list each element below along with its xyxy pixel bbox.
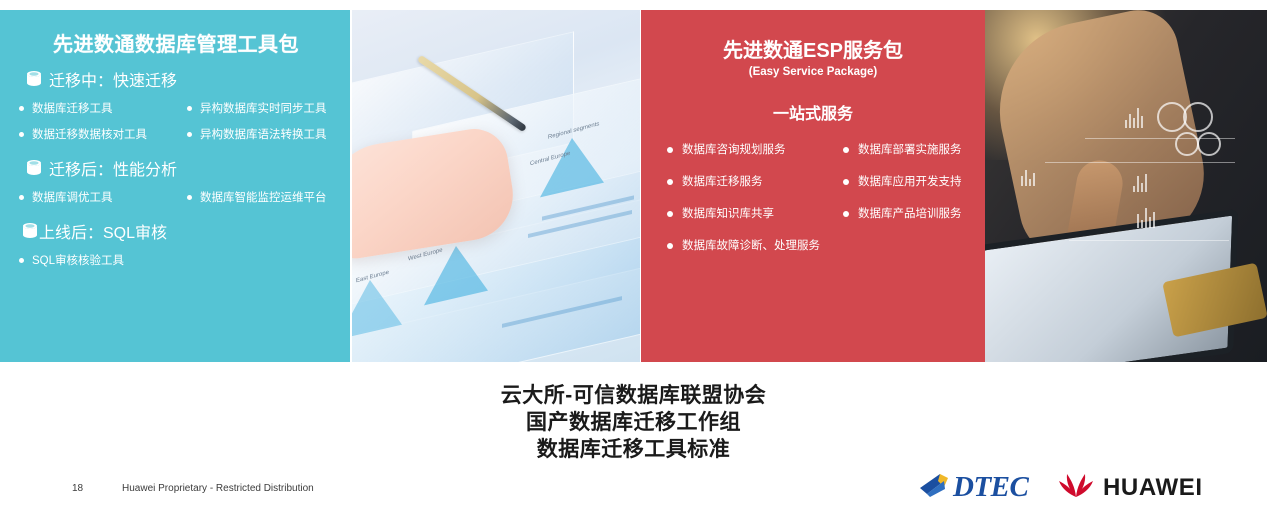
list-item: 数据库知识库共享 xyxy=(663,204,839,224)
list-item: 数据库咨询规划服务 xyxy=(663,140,839,160)
photo-data-barchart xyxy=(1021,168,1035,186)
left-stage-label: 迁移后：性能分析 xyxy=(49,156,177,180)
list-item: SQL审核核验工具 xyxy=(14,251,340,271)
photo-data-barchart xyxy=(1133,172,1147,192)
left-items-group-migrating: 数据库迁移工具 异构数据库实时同步工具 数据迁移数据核对工具 异构数据库语法转换… xyxy=(14,99,340,145)
left-stage-label: 迁移中：快速迁移 xyxy=(49,67,177,91)
list-item: 数据库故障诊断、处理服务 xyxy=(663,236,971,256)
photo-data-line xyxy=(1069,240,1229,241)
list-item: 异构数据库实时同步工具 xyxy=(182,99,340,119)
page-number: 18 xyxy=(72,483,83,494)
list-item: 数据库产品培训服务 xyxy=(839,204,971,224)
list-item: 数据库调优工具 xyxy=(14,188,182,208)
confidentiality-note: Huawei Proprietary - Restricted Distribu… xyxy=(122,483,314,494)
left-stage-label: 上线后：SQL审核 xyxy=(39,219,167,243)
photo-data-barchart xyxy=(1125,106,1143,128)
list-item: 异构数据库语法转换工具 xyxy=(182,125,340,145)
photo-data-line xyxy=(1085,138,1235,139)
list-item: 数据库应用开发支持 xyxy=(839,172,971,192)
database-icon xyxy=(26,159,42,177)
dtec-logo-text: DTEC xyxy=(953,473,1028,502)
list-item: 数据库迁移服务 xyxy=(663,172,839,192)
list-item: 数据库部署实施服务 xyxy=(839,140,971,160)
photo-data-barchart xyxy=(1137,206,1155,228)
huawei-logo-text: HUAWEI xyxy=(1103,476,1203,500)
left-stage-heading-migrating: 迁移中：快速迁移 xyxy=(26,67,340,91)
list-item: 数据库迁移工具 xyxy=(14,99,182,119)
tablet-touch-data-photo xyxy=(985,10,1267,362)
banner-strip: 先进数通数据库管理工具包 迁移中：快速迁移 数据库迁移工具 异构数据库实时同步工… xyxy=(0,10,1267,362)
right-panel-title: 先进数通ESP服务包 xyxy=(655,40,971,63)
list-item: 数据迁移数据核对工具 xyxy=(14,125,182,145)
right-panel-section-heading: 一站式服务 xyxy=(655,100,971,124)
left-panel-title: 先进数通数据库管理工具包 xyxy=(12,34,340,56)
photo-data-ring xyxy=(1197,132,1221,156)
left-items-group-after-golive: SQL审核核验工具 xyxy=(14,251,340,271)
bottom-title-line-1: 云大所-可信数据库联盟协会 xyxy=(0,382,1267,409)
right-items-group: 数据库咨询规划服务 数据库部署实施服务 数据库迁移服务 数据库应用开发支持 数据… xyxy=(663,140,971,256)
huawei-flower-icon xyxy=(1057,471,1095,504)
business-analytics-photo: Regional segments Central Europe West Eu… xyxy=(352,10,640,362)
dtec-logo: DTEC xyxy=(918,472,1028,503)
photo-data-line xyxy=(1045,162,1235,163)
bottom-title-line-3: 数据库迁移工具标准 xyxy=(0,436,1267,463)
left-items-group-after-migration: 数据库调优工具 数据库智能监控运维平台 xyxy=(14,188,340,208)
dtec-arrow-icon xyxy=(918,472,952,503)
left-stage-heading-after-golive: 上线后：SQL审核 xyxy=(22,219,340,243)
database-icon xyxy=(26,70,42,88)
huawei-logo: HUAWEI xyxy=(1057,471,1203,504)
list-item: 数据库智能监控运维平台 xyxy=(182,188,340,208)
right-esp-panel: 先进数通ESP服务包 (Easy Service Package) 一站式服务 … xyxy=(641,10,985,362)
right-panel-subtitle: (Easy Service Package) xyxy=(655,66,971,78)
left-toolkit-panel: 先进数通数据库管理工具包 迁移中：快速迁移 数据库迁移工具 异构数据库实时同步工… xyxy=(0,10,350,362)
left-stage-heading-after-migration: 迁移后：性能分析 xyxy=(26,156,340,180)
photo-data-ring xyxy=(1175,132,1199,156)
bottom-title-block: 云大所-可信数据库联盟协会 国产数据库迁移工作组 数据库迁移工具标准 xyxy=(0,382,1267,463)
bottom-title-line-2: 国产数据库迁移工作组 xyxy=(0,409,1267,436)
photo-data-ring xyxy=(1183,102,1213,132)
database-icon xyxy=(22,222,38,240)
